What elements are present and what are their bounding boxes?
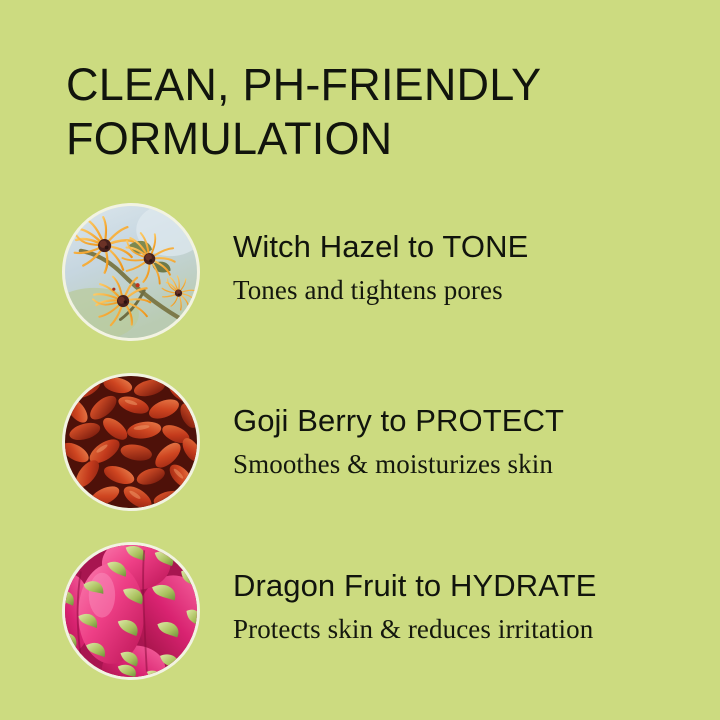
ingredient-title: Witch Hazel to TONE <box>233 229 703 265</box>
dragon-fruit-photo <box>62 542 200 680</box>
goji-berry-photo <box>62 373 200 511</box>
ingredient-text: Dragon Fruit to HYDRATE Protects skin & … <box>233 568 703 644</box>
ingredient-subtitle: Tones and tightens pores <box>233 275 703 305</box>
ingredient-title: Goji Berry to PROTECT <box>233 403 703 439</box>
page-title: CLEAN, PH-FRIENDLY FORMULATION <box>66 58 626 166</box>
ingredient-row: Goji Berry to PROTECT Smoothes & moistur… <box>0 373 720 513</box>
ingredient-text: Witch Hazel to TONE Tones and tightens p… <box>233 229 703 305</box>
ingredient-row: Dragon Fruit to HYDRATE Protects skin & … <box>0 542 720 682</box>
ingredient-title: Dragon Fruit to HYDRATE <box>233 568 703 604</box>
ingredient-row: Witch Hazel to TONE Tones and tightens p… <box>0 203 720 343</box>
ingredient-subtitle: Smoothes & moisturizes skin <box>233 449 703 479</box>
ingredient-text: Goji Berry to PROTECT Smoothes & moistur… <box>233 403 703 479</box>
ingredient-benefits-card: CLEAN, PH-FRIENDLY FORMULATION <box>0 0 720 720</box>
ingredient-subtitle: Protects skin & reduces irritation <box>233 614 703 644</box>
witch-hazel-photo <box>62 203 200 341</box>
